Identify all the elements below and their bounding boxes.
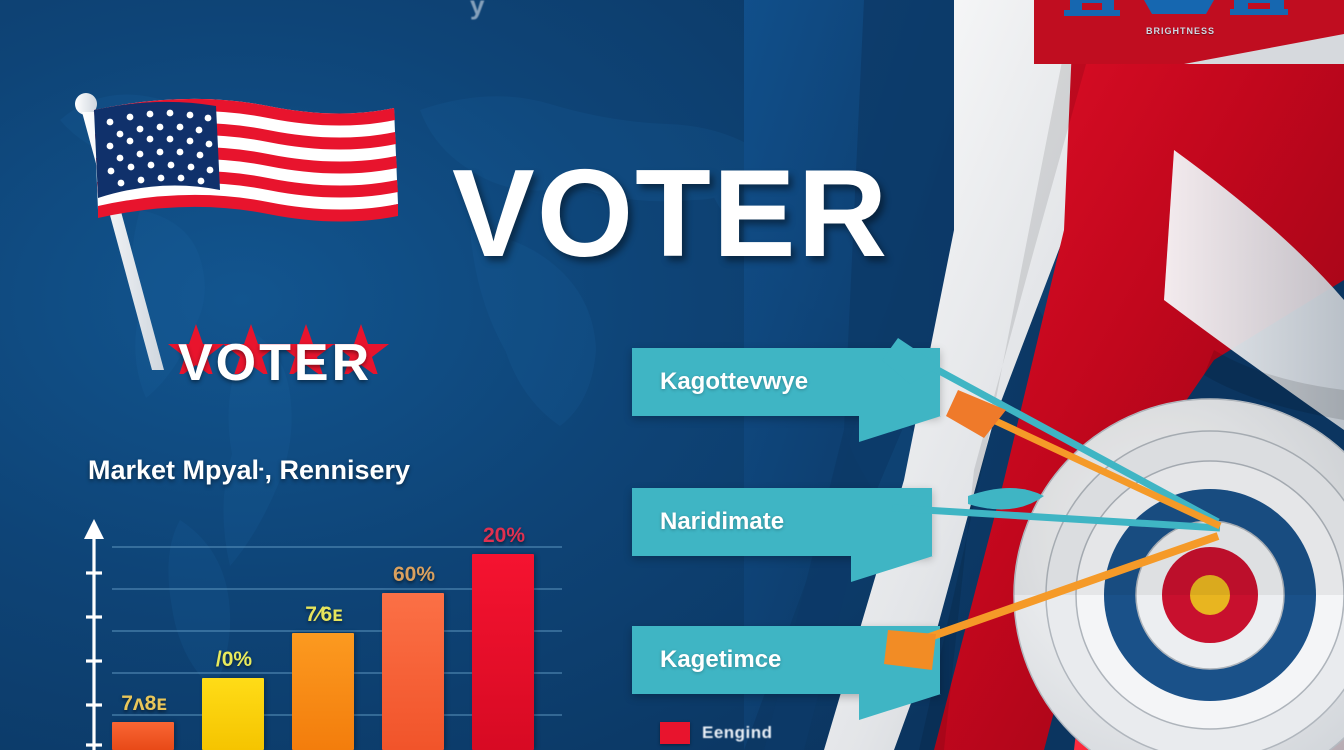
chart-bars: 7ʌ8ᴇ /0% 7⁄6ᴇ 60% 20% (110, 535, 562, 750)
chart-bar (292, 633, 354, 750)
dartboard-target (1010, 395, 1344, 750)
voter-logo: VOTER (68, 84, 408, 374)
callout-label: Kagottevwye (660, 368, 808, 396)
banner-label: BRIGHTNESS (1146, 26, 1215, 36)
bar-value-label: 7⁄6ᴇ (279, 603, 369, 627)
callout-label: Naridimate (660, 508, 784, 536)
legend-label: Eengind (702, 723, 773, 743)
poster-canvas: BRIGHTNESS (0, 0, 1344, 750)
chart-bar (202, 678, 264, 750)
legend-swatch-icon (660, 722, 690, 744)
chart-title: Market Mpyaŀ, Rennisery (88, 455, 410, 486)
chart-legend: Eengind (660, 722, 773, 744)
bar-chart: Market Mpyaŀ, Rennisery (72, 455, 562, 750)
logo-wordmark: VOTER (178, 337, 372, 389)
page-title: VOTER (452, 152, 889, 276)
callout-label: Kagetimce (660, 646, 781, 674)
chart-bar (472, 554, 534, 750)
callout-box-2[interactable]: Naridimate (632, 488, 932, 556)
callout-tail-icon (859, 694, 941, 720)
callout-box-3[interactable]: Kagetimce (632, 626, 940, 694)
chart-bar (112, 722, 174, 750)
bar-value-label: /0% (189, 648, 279, 672)
top-right-banner: BRIGHTNESS (1034, 0, 1344, 64)
bar-value-label: 20% (459, 524, 549, 548)
callout-tail-icon (859, 416, 941, 442)
callout-box-1[interactable]: Kagottevwye (632, 348, 940, 416)
bar-value-label: 7ʌ8ᴇ (99, 692, 189, 716)
bar-value-label: 60% (369, 563, 459, 587)
callout-tail-icon (851, 556, 933, 582)
page-subtitle: y (470, 0, 485, 21)
chart-bar (382, 593, 444, 750)
